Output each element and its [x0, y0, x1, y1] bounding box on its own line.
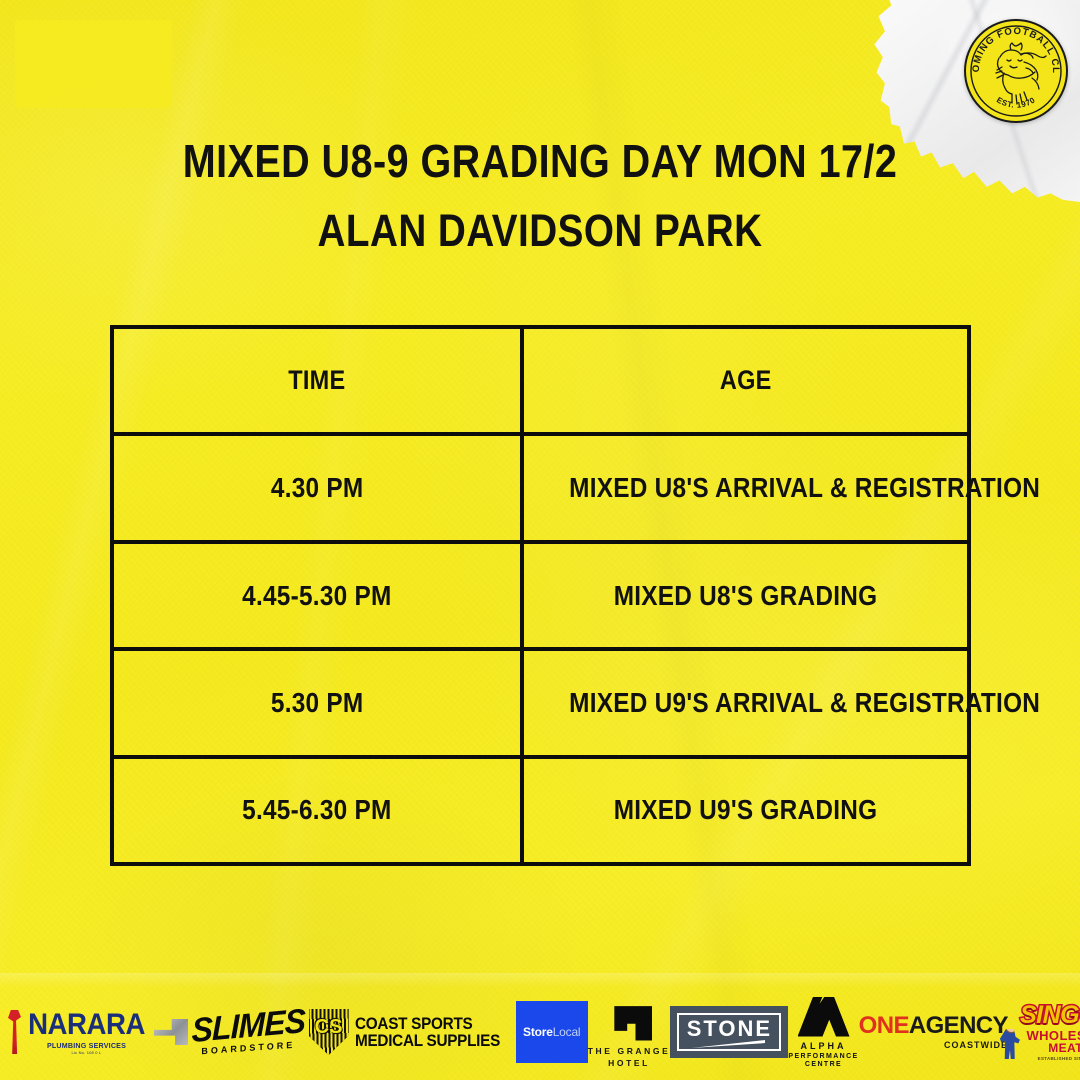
sponsor-strip-divider [0, 973, 1080, 987]
page-title-line-1: MIXED U8-9 GRADING DAY MON 17/2 [76, 138, 1005, 184]
sponsor-logo-singos-wholesale-meats: SINGO'S WHOLESALE MEATS ESTABLISHED SINC… [1008, 996, 1080, 1068]
cell-time: 4.30 PM [114, 436, 524, 539]
sponsor-logo-storelocal: StoreLocal [516, 996, 588, 1068]
sponsor-name-word-1: ONE [859, 1012, 909, 1039]
shield-icon [309, 1009, 349, 1055]
top-left-flat-patch [15, 20, 172, 108]
sponsor-logo-alpha-performance-centre: ALPHA PERFORMANCE CENTRE [788, 996, 858, 1068]
sponsor-established: ESTABLISHED SINCE 1981 [1020, 1056, 1080, 1061]
sponsor-name-light: Local [553, 1025, 581, 1039]
sponsor-name: NARARA [28, 1010, 145, 1040]
cell-time-value: 4.30 PM [271, 472, 364, 504]
sponsor-name-line-2: PERFORMANCE [788, 1053, 858, 1060]
cell-time-value: 4.45-5.30 PM [242, 580, 391, 612]
cell-age: MIXED U9'S GRADING [524, 759, 967, 862]
table-row: 5.45-6.30 PM MIXED U9'S GRADING [114, 759, 967, 862]
cell-age-value: MIXED U9'S ARRIVAL & REGISTRATION [569, 687, 1040, 719]
sponsor-name-bold: Store [523, 1025, 553, 1039]
grange-g-mark-icon [606, 997, 652, 1041]
sponsor-name-line-3: MEATS [1020, 1042, 1080, 1054]
column-header-age-label: AGE [720, 365, 772, 396]
grading-schedule-table: TIME AGE 4.30 PM MIXED U8'S ARRIVAL & RE… [110, 325, 971, 866]
sponsor-name-word-2: AGENCY [909, 1012, 1008, 1039]
alpha-a-mark-icon [798, 997, 850, 1037]
poster-title-block: MIXED U8-9 GRADING DAY MON 17/2 ALAN DAV… [0, 138, 1080, 253]
sponsor-logo-narara-plumbing-services: NARARA PLUMBING SERVICES Lic No. 108 0 L [8, 996, 188, 1068]
sponsor-name-line-1: ALPHA [788, 1041, 858, 1051]
table-row: 4.30 PM MIXED U8'S ARRIVAL & REGISTRATIO… [114, 436, 967, 543]
cell-age: MIXED U8'S ARRIVAL & REGISTRATION [524, 436, 1080, 539]
column-header-time: TIME [114, 329, 524, 432]
cell-time: 5.45-6.30 PM [114, 759, 524, 862]
sponsor-name-line-2: HOTEL [588, 1058, 671, 1068]
sponsor-name: SINGO'S [1020, 1003, 1080, 1028]
sponsor-logo-stone: STONE [670, 996, 788, 1068]
cell-age: MIXED U9'S ARRIVAL & REGISTRATION [524, 651, 1080, 754]
cell-age-value: MIXED U9'S GRADING [614, 794, 878, 826]
cell-age: MIXED U8'S GRADING [524, 544, 967, 647]
sponsor-licence: Lic No. 108 0 L [23, 1050, 150, 1055]
sponsor-name-line-2: MEDICAL SUPPLIES [355, 1032, 500, 1049]
table-row: 4.45-5.30 PM MIXED U8'S GRADING [114, 544, 967, 651]
sponsor-logo-one-agency-coastwide: ONEAGENCY COASTWIDE [859, 996, 1008, 1068]
cell-time: 5.30 PM [114, 651, 524, 754]
page-title-line-2: ALAN DAVIDSON PARK [76, 208, 1005, 253]
column-header-age: AGE [524, 329, 967, 432]
cell-time: 4.45-5.30 PM [114, 544, 524, 647]
wyoming-football-club-crest: WYOMING FOOTBALL CLUB EST. 1970 [964, 19, 1068, 123]
column-header-time-label: TIME [288, 365, 345, 396]
cell-age-value: MIXED U8'S GRADING [614, 580, 878, 612]
sponsor-logo-strip: NARARA PLUMBING SERVICES Lic No. 108 0 L… [0, 988, 1080, 1080]
sponsor-logo-coast-sports-medical-supplies: COAST SPORTS MEDICAL SUPPLIES [309, 996, 516, 1068]
sponsor-name-line-1: COAST SPORTS [355, 1015, 500, 1032]
sponsor-logo-the-grange-hotel: THE GRANGE HOTEL [588, 996, 671, 1068]
sponsor-name-line-1: THE GRANGE [588, 1046, 671, 1056]
sponsor-tagline: COASTWIDE [859, 1040, 1008, 1050]
cell-age-value: MIXED U8'S ARRIVAL & REGISTRATION [569, 472, 1040, 504]
svg-text:WYOMING FOOTBALL CLUB: WYOMING FOOTBALL CLUB [966, 21, 1061, 74]
table-row: 5.30 PM MIXED U9'S ARRIVAL & REGISTRATIO… [114, 651, 967, 758]
sponsor-name-line-3: CENTRE [788, 1061, 858, 1068]
cell-time-value: 5.30 PM [271, 687, 364, 719]
sponsor-name: STONE [687, 1016, 772, 1042]
pipe-icon [154, 1019, 188, 1045]
wrench-icon [8, 1010, 21, 1054]
table-header-row: TIME AGE [114, 329, 967, 436]
sponsor-logo-slimes-boardstore: SLIMES BOARDSTORE [188, 996, 309, 1068]
cell-time-value: 5.45-6.30 PM [242, 794, 391, 826]
sponsor-tagline: PLUMBING SERVICES [26, 1041, 147, 1050]
